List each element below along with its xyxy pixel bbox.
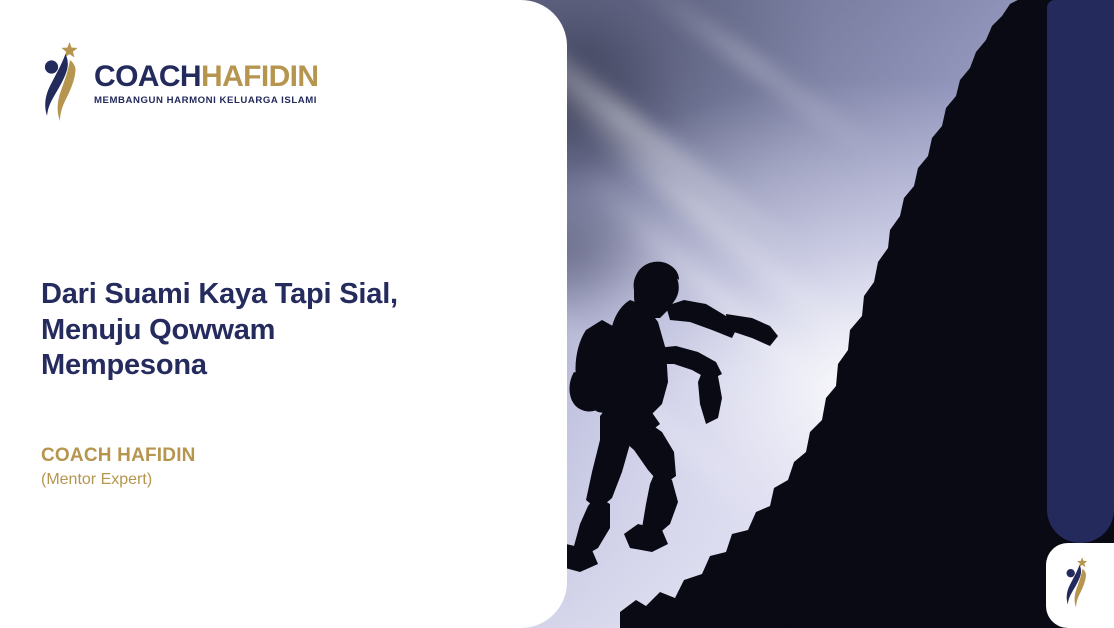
brand-logo[interactable]: COACHHAFIDIN MEMBANGUN HARMONI KELUARGA … <box>41 40 318 128</box>
content-panel: COACHHAFIDIN MEMBANGUN HARMONI KELUARGA … <box>0 0 567 628</box>
bottom-right-logo-card[interactable] <box>1046 543 1114 628</box>
speaker-name: COACH HAFIDIN <box>41 444 196 468</box>
brand-word-hafidin: HAFIDIN <box>201 60 318 93</box>
brand-wordmark-text: COACHHAFIDIN <box>94 62 318 92</box>
slide-title: Dari Suami Kaya Tapi Sial, Menuju Qowwam… <box>41 277 441 383</box>
coach-hafidin-figure-star-icon <box>41 40 85 128</box>
coach-hafidin-figure-star-icon <box>1063 556 1093 612</box>
brand-word-coach: COACH <box>94 60 201 93</box>
brand-wordmark: COACHHAFIDIN MEMBANGUN HARMONI KELUARGA … <box>94 62 318 106</box>
speaker-byline: COACH HAFIDIN (Mentor Expert) <box>41 444 196 491</box>
brand-tagline: MEMBANGUN HARMONI KELUARGA ISLAMI <box>94 95 318 106</box>
presentation-slide: COACHHAFIDIN MEMBANGUN HARMONI KELUARGA … <box>0 0 1114 628</box>
right-navy-bar <box>1047 0 1114 543</box>
speaker-role: (Mentor Expert) <box>41 470 196 491</box>
